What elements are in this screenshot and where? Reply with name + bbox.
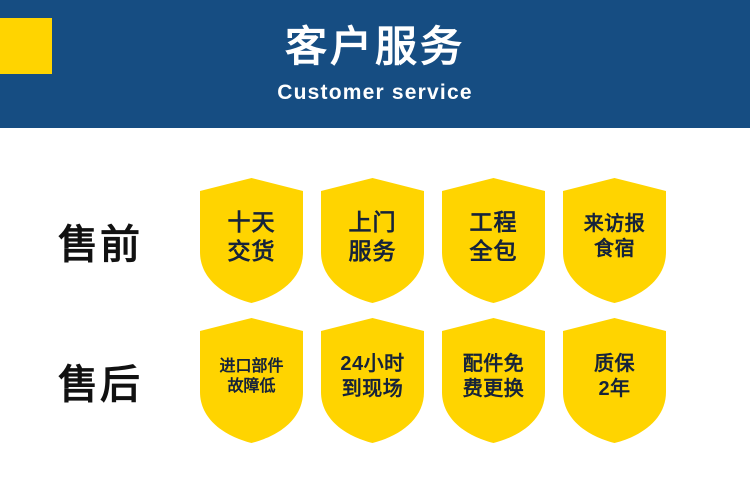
shield-badge: 进口部件 故障低 [200,318,303,443]
shield-label-line2: 费更换 [463,377,525,401]
shield-label-line1: 质保 [594,352,635,376]
shield-label: 工程 全包 [442,178,545,303]
shield-label-line2: 食宿 [594,237,635,261]
aftersales-shield-group: 进口部件 故障低 24小时 到现场 [200,318,666,443]
page-title-cn: 客户服务 [285,25,465,69]
shield-label-line1: 进口部件 [219,357,283,377]
presales-shield-group: 十天 交货 上门 服务 [200,178,666,303]
presales-row-label: 售前 [0,212,200,270]
header-title-group: 客户服务 Customer service [0,0,750,128]
shield-badge: 配件免 费更换 [442,318,545,443]
shield-label: 24小时 到现场 [321,318,424,443]
aftersales-row: 售后 进口部件 故障低 24小时 [0,318,750,443]
shield-badge: 来访报 食宿 [563,178,666,303]
shield-label-line1: 24小时 [340,352,404,376]
header-banner: 客户服务 Customer service [0,0,750,128]
shield-badge: 24小时 到现场 [321,318,424,443]
shield-label-line2: 2年 [598,377,630,401]
aftersales-row-label: 售后 [0,352,200,410]
shield-label-line2: 交货 [228,237,276,265]
shield-label: 质保 2年 [563,318,666,443]
shield-badge: 十天 交货 [200,178,303,303]
shield-label: 来访报 食宿 [563,178,666,303]
shield-label-line1: 工程 [470,208,518,236]
shield-label-line2: 到现场 [342,377,404,401]
shield-label: 上门 服务 [321,178,424,303]
shield-label-line2: 故障低 [227,377,275,397]
shield-label-line1: 上门 [349,208,397,236]
shield-label: 十天 交货 [200,178,303,303]
shield-badge: 质保 2年 [563,318,666,443]
shield-label-line1: 配件免 [463,352,525,376]
shield-badge: 工程 全包 [442,178,545,303]
shield-label-line1: 十天 [228,208,276,236]
shield-label-line1: 来访报 [584,212,646,236]
shield-label-line2: 全包 [470,237,518,265]
service-content: 售前 十天 交货 上门 服 [0,128,750,490]
presales-row: 售前 十天 交货 上门 服 [0,178,750,303]
shield-label: 进口部件 故障低 [200,318,303,443]
page-title-en: Customer service [277,81,472,105]
shield-label-line2: 服务 [349,237,397,265]
shield-label: 配件免 费更换 [442,318,545,443]
customer-service-banner: 客户服务 Customer service 售前 十天 交货 [0,0,750,490]
shield-badge: 上门 服务 [321,178,424,303]
